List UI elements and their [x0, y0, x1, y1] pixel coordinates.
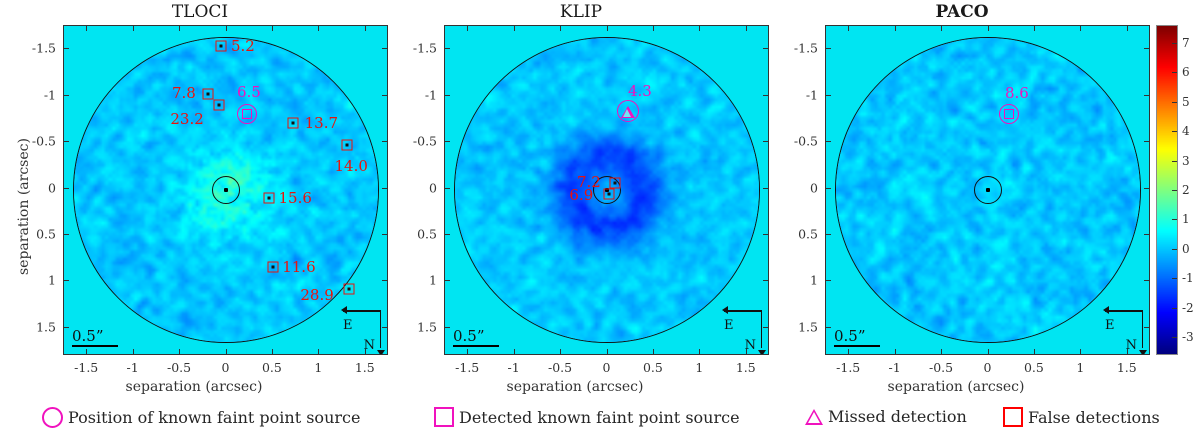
- x-axis-tick-mark-top: [941, 25, 942, 31]
- legend-item-missed-detection: Missed detection: [805, 407, 967, 426]
- y-axis-tick-mark-right: [1144, 188, 1150, 189]
- legend-label-detected-known: Detected known faint point source: [459, 408, 740, 427]
- plot-area-paco: 8.60.5”EN: [825, 25, 1150, 355]
- magenta-circle-icon: [42, 407, 63, 428]
- detected-known-source-square: [242, 109, 252, 119]
- colorbar-tick-mark: [1172, 102, 1177, 103]
- scale-bar: 0.5”: [453, 329, 499, 348]
- y-axis-tick-mark: [63, 95, 69, 96]
- snr-label: 14.0: [335, 157, 368, 175]
- y-axis-tick-mark: [444, 234, 450, 235]
- y-axis-tick-label: 1: [429, 273, 437, 288]
- colorbar-tick-label: 4: [1182, 124, 1190, 138]
- false-detection-dot: [613, 181, 616, 184]
- x-axis-tick-mark: [1080, 349, 1081, 355]
- x-axis-tick-label: 0.5: [643, 360, 663, 375]
- legend-label-known-position: Position of known faint point source: [68, 408, 360, 427]
- snr-label: 6.5: [237, 83, 261, 101]
- x-axis-tick-mark: [1127, 349, 1128, 355]
- x-axis-tick-mark-top: [1127, 25, 1128, 31]
- colorbar-tick-label: 7: [1182, 36, 1190, 50]
- colorbar-tick-label: 1: [1182, 212, 1190, 226]
- x-axis-tick-mark-top: [653, 25, 654, 31]
- x-axis-tick-label: 0.5: [262, 360, 282, 375]
- colorbar-tick-label: 3: [1182, 154, 1190, 168]
- y-axis-tick-mark: [825, 327, 831, 328]
- compass-rose: EN: [722, 310, 764, 350]
- x-axis-tick-mark: [699, 349, 700, 355]
- x-axis-tick-label: -1: [508, 360, 520, 375]
- colorbar-tick-label: 5: [1182, 95, 1190, 109]
- plot-area-klip: 4.37.26.90.5”EN: [444, 25, 769, 355]
- x-axis-tick-mark-top: [699, 25, 700, 31]
- y-axis-tick-label: 0: [810, 180, 818, 195]
- y-axis-tick-mark: [825, 280, 831, 281]
- false-detection-dot: [268, 196, 271, 199]
- colorbar-tick-label: 0: [1182, 242, 1190, 256]
- magenta-square-icon: [434, 407, 454, 427]
- snr-label: 5.2: [231, 37, 255, 55]
- compass-rose: EN: [341, 310, 383, 350]
- colorbar-tick-mark: [1172, 337, 1177, 338]
- y-axis-tick-label: 1: [48, 273, 56, 288]
- x-axis-tick-mark-top: [467, 25, 468, 31]
- y-axis-tick-mark: [444, 188, 450, 189]
- x-axis-tick-mark-top: [272, 25, 273, 31]
- false-detection-dot: [271, 265, 274, 268]
- colorbar-tick-label: -2: [1182, 301, 1194, 315]
- x-axis-tick-mark-top: [1080, 25, 1081, 31]
- y-axis-tick-label: -1.5: [32, 41, 56, 56]
- y-axis-tick-mark: [63, 188, 69, 189]
- y-axis-tick-label: -0.5: [794, 134, 818, 149]
- scale-bar: 0.5”: [72, 329, 118, 348]
- x-axis-tick-mark: [895, 349, 896, 355]
- y-axis-tick-mark: [444, 141, 450, 142]
- colorbar-tick-mark: [1172, 278, 1177, 279]
- x-axis-tick-mark: [467, 349, 468, 355]
- y-axis-tick-mark: [444, 327, 450, 328]
- y-axis-tick-label: 1.5: [798, 319, 818, 334]
- x-axis-title: separation (arcsec): [0, 379, 388, 395]
- x-axis-tick-label: 1.5: [736, 360, 756, 375]
- y-axis-tick-mark: [63, 48, 69, 49]
- y-axis-tick-label: -1.5: [794, 41, 818, 56]
- x-axis-tick-mark: [941, 349, 942, 355]
- y-axis-tick-mark: [444, 95, 450, 96]
- colorbar-tick-label: -1: [1182, 271, 1194, 285]
- x-axis-tick-label: -0.5: [929, 360, 953, 375]
- y-axis-tick-mark-right: [1144, 327, 1150, 328]
- y-axis-tick-mark: [825, 141, 831, 142]
- panel-title-tloci: TLOCI: [0, 2, 400, 22]
- false-detection-dot: [346, 143, 349, 146]
- legend-label-missed-detection: Missed detection: [828, 407, 967, 426]
- snr-label: 8.6: [1005, 84, 1029, 102]
- x-axis-tick-mark: [514, 349, 515, 355]
- y-axis-tick-mark: [63, 234, 69, 235]
- y-axis-tick-label: 1.5: [36, 319, 56, 334]
- x-axis-tick-label: 1: [695, 360, 703, 375]
- x-axis-tick-mark-top: [895, 25, 896, 31]
- x-axis-tick-label: 1: [314, 360, 322, 375]
- x-axis-tick-label: 0: [603, 360, 611, 375]
- y-axis-tick-label: 0: [48, 180, 56, 195]
- y-axis-tick-mark: [444, 48, 450, 49]
- x-axis-tick-mark: [848, 349, 849, 355]
- snr-label: 11.6: [282, 258, 315, 276]
- compass-east-label: E: [724, 318, 734, 333]
- x-axis-tick-label: 0.5: [1024, 360, 1044, 375]
- x-axis-tick-label: 1: [1076, 360, 1084, 375]
- x-axis-tick-label: 0: [984, 360, 992, 375]
- x-axis-tick-mark: [560, 349, 561, 355]
- snr-label: 6.9: [569, 186, 593, 204]
- x-axis-title: separation (arcsec): [762, 379, 1150, 395]
- snr-label: 23.2: [170, 110, 203, 128]
- colorbar-tick-mark: [1172, 161, 1177, 162]
- north-arrow-icon: [1139, 350, 1147, 355]
- snr-label: 28.9: [300, 286, 333, 304]
- y-axis-tick-mark-right: [1144, 141, 1150, 142]
- y-axis-tick-mark: [63, 280, 69, 281]
- x-axis-tick-label: 0: [222, 360, 230, 375]
- x-axis-tick-label: -0.5: [548, 360, 572, 375]
- y-axis-tick-label: 1.5: [417, 319, 437, 334]
- x-axis-tick-mark-top: [226, 25, 227, 31]
- y-axis-tick-label: -1: [44, 87, 56, 102]
- y-axis-tick-label: 1: [810, 273, 818, 288]
- compass-east-label: E: [1105, 318, 1115, 333]
- scale-bar-label: 0.5”: [834, 329, 880, 344]
- x-axis-tick-mark-top: [848, 25, 849, 31]
- panel-tloci: TLOCI5.27.823.26.513.714.015.611.628.90.…: [0, 0, 400, 400]
- colorbar-tick-mark: [1172, 190, 1177, 191]
- colorbar-tick-mark: [1172, 308, 1177, 309]
- panel-klip: KLIP4.37.26.90.5”EN-1.5-1.5-1-1-0.5-0.50…: [381, 0, 781, 400]
- detected-known-source-square: [1004, 109, 1014, 119]
- colorbar-tick-mark: [1172, 131, 1177, 132]
- snr-label: 13.7: [305, 114, 338, 132]
- y-axis-tick-label: 0.5: [417, 226, 437, 241]
- x-axis-tick-mark: [746, 349, 747, 355]
- x-axis-tick-mark: [988, 349, 989, 355]
- x-axis-tick-mark-top: [607, 25, 608, 31]
- x-axis-tick-mark: [226, 349, 227, 355]
- magenta-triangle-icon: [805, 409, 823, 425]
- legend-item-detected-known: Detected known faint point source: [434, 407, 740, 427]
- y-axis-tick-mark: [825, 95, 831, 96]
- snr-label: 4.3: [628, 82, 652, 100]
- x-axis-tick-mark-top: [86, 25, 87, 31]
- red-square-icon: [1003, 407, 1023, 427]
- y-axis-tick-label: -1: [806, 87, 818, 102]
- colorbar-tick-mark: [1172, 249, 1177, 250]
- y-axis-tick-label: -1.5: [413, 41, 437, 56]
- x-axis-tick-mark: [607, 349, 608, 355]
- scale-bar-label: 0.5”: [72, 329, 118, 344]
- y-axis-tick-label: -1: [425, 87, 437, 102]
- scale-bar: 0.5”: [834, 329, 880, 348]
- y-axis-tick-label: 0: [429, 180, 437, 195]
- x-axis-tick-mark-top: [318, 25, 319, 31]
- y-axis-tick-mark-right: [1144, 280, 1150, 281]
- x-axis-tick-mark-top: [133, 25, 134, 31]
- y-axis-tick-mark: [444, 280, 450, 281]
- coronagraph-mask: [212, 176, 240, 204]
- x-axis-tick-mark-top: [560, 25, 561, 31]
- snr-label: 7.8: [172, 84, 196, 102]
- y-axis-tick-mark-right: [1144, 48, 1150, 49]
- colorbar-tick-mark: [1172, 43, 1177, 44]
- colorbar-tick-label: 6: [1182, 65, 1190, 79]
- compass-rose: EN: [1103, 310, 1145, 350]
- y-axis-tick-mark: [63, 327, 69, 328]
- colorbar-tick-mark: [1172, 72, 1177, 73]
- panel-title-klip: KLIP: [381, 2, 781, 22]
- x-axis-tick-mark-top: [746, 25, 747, 31]
- x-axis-tick-mark: [365, 349, 366, 355]
- x-axis-tick-label: -0.5: [167, 360, 191, 375]
- false-detection-dot: [206, 92, 209, 95]
- colorbar-tick-label: 2: [1182, 183, 1190, 197]
- false-detection-dot: [608, 193, 611, 196]
- x-axis-tick-mark-top: [179, 25, 180, 31]
- y-axis-tick-mark: [63, 141, 69, 142]
- x-axis-tick-mark-top: [514, 25, 515, 31]
- y-axis-title: separation (arcsec): [16, 138, 32, 275]
- plot-area-tloci: 5.27.823.26.513.714.015.611.628.90.5”EN: [63, 25, 388, 355]
- y-axis-tick-label: -0.5: [32, 134, 56, 149]
- east-arrow-icon: [341, 306, 347, 314]
- scale-bar-label: 0.5”: [453, 329, 499, 344]
- scale-bar-line: [834, 345, 880, 348]
- legend-item-false-detections: False detections: [1003, 407, 1160, 427]
- x-axis-tick-label: -1.5: [74, 360, 98, 375]
- false-detection-dot: [219, 45, 222, 48]
- false-detection-dot: [348, 287, 351, 290]
- y-axis-tick-mark-right: [1144, 95, 1150, 96]
- y-axis-tick-mark-right: [1144, 234, 1150, 235]
- east-arrow-icon: [1103, 306, 1109, 314]
- x-axis-tick-mark: [318, 349, 319, 355]
- colorbar-tick-mark: [1172, 219, 1177, 220]
- x-axis-tick-mark-top: [1034, 25, 1035, 31]
- scale-bar-line: [72, 345, 118, 348]
- y-axis-tick-label: -0.5: [413, 134, 437, 149]
- y-axis-tick-label: 0.5: [36, 226, 56, 241]
- x-axis-tick-label: -1: [889, 360, 901, 375]
- x-axis-tick-mark-top: [365, 25, 366, 31]
- false-detection-dot: [292, 121, 295, 124]
- x-axis-tick-label: 1.5: [1117, 360, 1137, 375]
- y-axis-tick-mark: [825, 234, 831, 235]
- colorbar-tick-label: -3: [1182, 330, 1194, 344]
- x-axis-tick-label: 1.5: [355, 360, 375, 375]
- panel-title-paco: PACO: [762, 2, 1162, 22]
- false-detection-dot: [218, 103, 221, 106]
- scale-bar-line: [453, 345, 499, 348]
- figure-legend: Position of known faint point source Det…: [0, 398, 1200, 439]
- snr-label: 15.6: [279, 189, 312, 207]
- x-axis-tick-mark: [1034, 349, 1035, 355]
- x-axis-tick-mark: [86, 349, 87, 355]
- panel-paco: PACO8.60.5”EN-1.5-1.5-1-1-0.5-0.5000.50.…: [762, 0, 1162, 400]
- x-axis-tick-mark: [272, 349, 273, 355]
- y-axis-tick-mark: [825, 188, 831, 189]
- east-arrow-icon: [722, 306, 728, 314]
- x-axis-tick-label: -1.5: [836, 360, 860, 375]
- y-axis-tick-label: 0.5: [798, 226, 818, 241]
- x-axis-tick-mark: [653, 349, 654, 355]
- x-axis-tick-mark: [179, 349, 180, 355]
- x-axis-tick-mark: [133, 349, 134, 355]
- x-axis-tick-mark-top: [988, 25, 989, 31]
- y-axis-tick-mark: [825, 48, 831, 49]
- x-axis-tick-label: -1: [127, 360, 139, 375]
- coronagraph-mask: [974, 176, 1002, 204]
- compass-east-label: E: [343, 318, 353, 333]
- x-axis-title: separation (arcsec): [381, 379, 769, 395]
- legend-item-known-position: Position of known faint point source: [42, 407, 360, 428]
- legend-label-false-detections: False detections: [1028, 408, 1160, 427]
- x-axis-tick-label: -1.5: [455, 360, 479, 375]
- missed-detection-triangle: [621, 106, 635, 118]
